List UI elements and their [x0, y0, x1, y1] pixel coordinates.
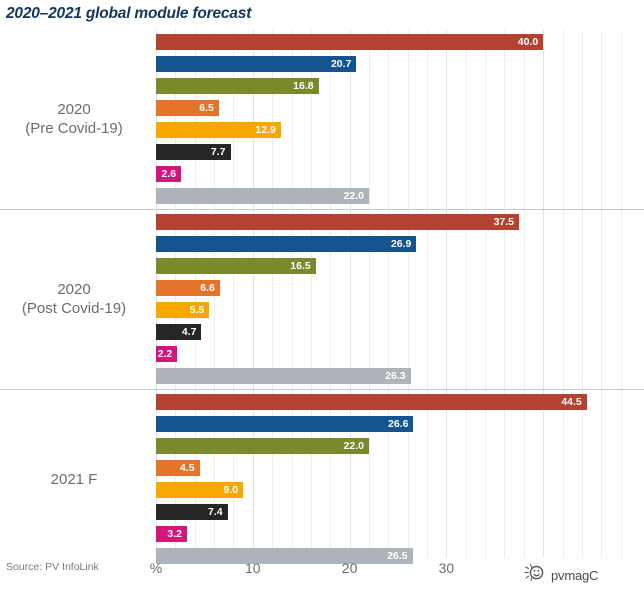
group-title: 2020(Post Covid-19): [0, 280, 148, 318]
bar-value-label: 40.0: [518, 34, 538, 50]
group-title: 2020(Pre Covid-19): [0, 100, 148, 138]
chart-row[interactable]: ME7.7: [156, 141, 626, 163]
chart-row[interactable]: EU26.9: [156, 233, 626, 255]
page-title: 2020–2021 global module forecast: [6, 5, 251, 23]
bar-eu[interactable]: 26.9: [156, 236, 416, 252]
bar-value-label: 2.2: [158, 346, 173, 362]
group-separator: [0, 209, 644, 210]
bar-others[interactable]: 26.3: [156, 368, 411, 384]
bar-track: 6.5: [156, 100, 626, 116]
bar-track: 9.0: [156, 482, 626, 498]
bar-track: 3.2: [156, 526, 626, 542]
bar-track: 16.8: [156, 78, 626, 94]
bar-track: 26.6: [156, 416, 626, 432]
bar-track: 6.6: [156, 280, 626, 296]
bar-track: 20.7: [156, 56, 626, 72]
bar-value-label: 22.0: [344, 188, 364, 204]
bar-me[interactable]: 7.4: [156, 504, 228, 520]
bar-usa[interactable]: 16.8: [156, 78, 319, 94]
bar-value-label: 20.7: [331, 56, 351, 72]
group-title-line2: (Pre Covid-19): [0, 119, 148, 138]
bar-track: 5.5: [156, 302, 626, 318]
bar-group: China37.5EU26.9USA16.5Japan6.6India5.5ME…: [156, 211, 626, 387]
bar-value-label: 12.9: [255, 122, 275, 138]
bar-value-label: 16.5: [290, 258, 310, 274]
bar-me[interactable]: 7.7: [156, 144, 231, 160]
bar-track: 26.3: [156, 368, 626, 384]
bar-africa[interactable]: 2.6: [156, 166, 181, 182]
chart-row[interactable]: India9.0: [156, 479, 626, 501]
bar-track: 4.5: [156, 460, 626, 476]
bar-track: 22.0: [156, 188, 626, 204]
plot-area: China40.0EU20.7USA16.8Japan6.5India12.9M…: [156, 30, 626, 558]
bar-usa[interactable]: 22.0: [156, 438, 369, 454]
bar-track: 2.2: [156, 346, 626, 362]
bar-others[interactable]: 22.0: [156, 188, 369, 204]
bar-india[interactable]: 12.9: [156, 122, 281, 138]
chart-row[interactable]: USA16.5: [156, 255, 626, 277]
group-title-line2: (Post Covid-19): [0, 299, 148, 318]
bar-value-label: 44.5: [561, 394, 581, 410]
chart-row[interactable]: USA22.0: [156, 435, 626, 457]
chart-row[interactable]: China37.5: [156, 211, 626, 233]
brand-logo: pvmagC: [524, 563, 598, 588]
sun-smiley-icon: [524, 563, 546, 588]
bar-japan[interactable]: 6.6: [156, 280, 220, 296]
bar-value-label: 26.9: [391, 236, 411, 252]
chart-row[interactable]: China40.0: [156, 31, 626, 53]
chart-row[interactable]: Others22.0: [156, 185, 626, 207]
bar-track: 2.6: [156, 166, 626, 182]
bar-usa[interactable]: 16.5: [156, 258, 316, 274]
bar-africa[interactable]: 2.2: [156, 346, 177, 362]
chart-row[interactable]: ME4.7: [156, 321, 626, 343]
x-tick-label: 30: [439, 560, 455, 576]
bar-track: 44.5: [156, 394, 626, 410]
bar-group: China40.0EU20.7USA16.8Japan6.5India12.9M…: [156, 31, 626, 207]
bar-value-label: 9.0: [224, 482, 239, 498]
bar-group: China44.5EU26.6USA22.0Japan4.5India9.0ME…: [156, 391, 626, 567]
bar-value-label: 2.6: [162, 166, 177, 182]
bar-track: 4.7: [156, 324, 626, 340]
chart-row[interactable]: Africa3.2: [156, 523, 626, 545]
bar-value-label: 4.5: [180, 460, 195, 476]
chart-row[interactable]: EU26.6: [156, 413, 626, 435]
bar-value-label: 5.5: [190, 302, 205, 318]
bar-india[interactable]: 5.5: [156, 302, 209, 318]
source-note: Source: PV InfoLink: [6, 561, 99, 573]
chart-row[interactable]: China44.5: [156, 391, 626, 413]
bar-india[interactable]: 9.0: [156, 482, 243, 498]
group-title-line1: 2020: [57, 101, 90, 118]
bar-value-label: 3.2: [167, 526, 182, 542]
group-separator: [0, 389, 644, 390]
bar-china[interactable]: 44.5: [156, 394, 587, 410]
bar-china[interactable]: 40.0: [156, 34, 543, 50]
chart-row[interactable]: India12.9: [156, 119, 626, 141]
bar-value-label: 26.3: [385, 368, 405, 384]
bar-value-label: 7.4: [208, 504, 223, 520]
bar-track: 7.7: [156, 144, 626, 160]
chart-row[interactable]: Japan6.6: [156, 277, 626, 299]
bar-track: 37.5: [156, 214, 626, 230]
x-tick-label: 10: [245, 560, 261, 576]
chart-row[interactable]: Others26.3: [156, 365, 626, 387]
bar-track: 26.9: [156, 236, 626, 252]
bar-track: 12.9: [156, 122, 626, 138]
bar-value-label: 37.5: [494, 214, 514, 230]
bar-value-label: 6.6: [200, 280, 215, 296]
bar-track: 40.0: [156, 34, 626, 50]
bar-eu[interactable]: 26.6: [156, 416, 413, 432]
x-tick-label: 20: [342, 560, 358, 576]
bar-value-label: 6.5: [199, 100, 214, 116]
group-title: 2021 F: [0, 470, 148, 489]
bar-track: 7.4: [156, 504, 626, 520]
bar-china[interactable]: 37.5: [156, 214, 519, 230]
bar-value-label: 26.6: [388, 416, 408, 432]
chart-row[interactable]: Japan6.5: [156, 97, 626, 119]
bar-value-label: 16.8: [293, 78, 313, 94]
chart-row[interactable]: Japan4.5: [156, 457, 626, 479]
group-title-line1: 2021 F: [51, 471, 98, 488]
bar-me[interactable]: 4.7: [156, 324, 201, 340]
group-title-line1: 2020: [57, 281, 90, 298]
chart-row[interactable]: Africa2.2: [156, 343, 626, 365]
bar-eu[interactable]: 20.7: [156, 56, 356, 72]
bar-japan[interactable]: 4.5: [156, 460, 200, 476]
x-tick-label: %: [150, 560, 162, 576]
bar-value-label: 22.0: [344, 438, 364, 454]
chart-row[interactable]: EU20.7: [156, 53, 626, 75]
chart-row[interactable]: Africa2.6: [156, 163, 626, 185]
chart-row[interactable]: India5.5: [156, 299, 626, 321]
chart-row[interactable]: USA16.8: [156, 75, 626, 97]
bar-africa[interactable]: 3.2: [156, 526, 187, 542]
bar-value-label: 4.7: [182, 324, 197, 340]
bar-japan[interactable]: 6.5: [156, 100, 219, 116]
bar-track: 22.0: [156, 438, 626, 454]
chart-canvas: 2020–2021 global module forecast China40…: [0, 0, 644, 600]
chart-row[interactable]: ME7.4: [156, 501, 626, 523]
bar-value-label: 7.7: [211, 144, 226, 160]
bar-track: 16.5: [156, 258, 626, 274]
brand-name: pvmagC: [551, 568, 598, 583]
